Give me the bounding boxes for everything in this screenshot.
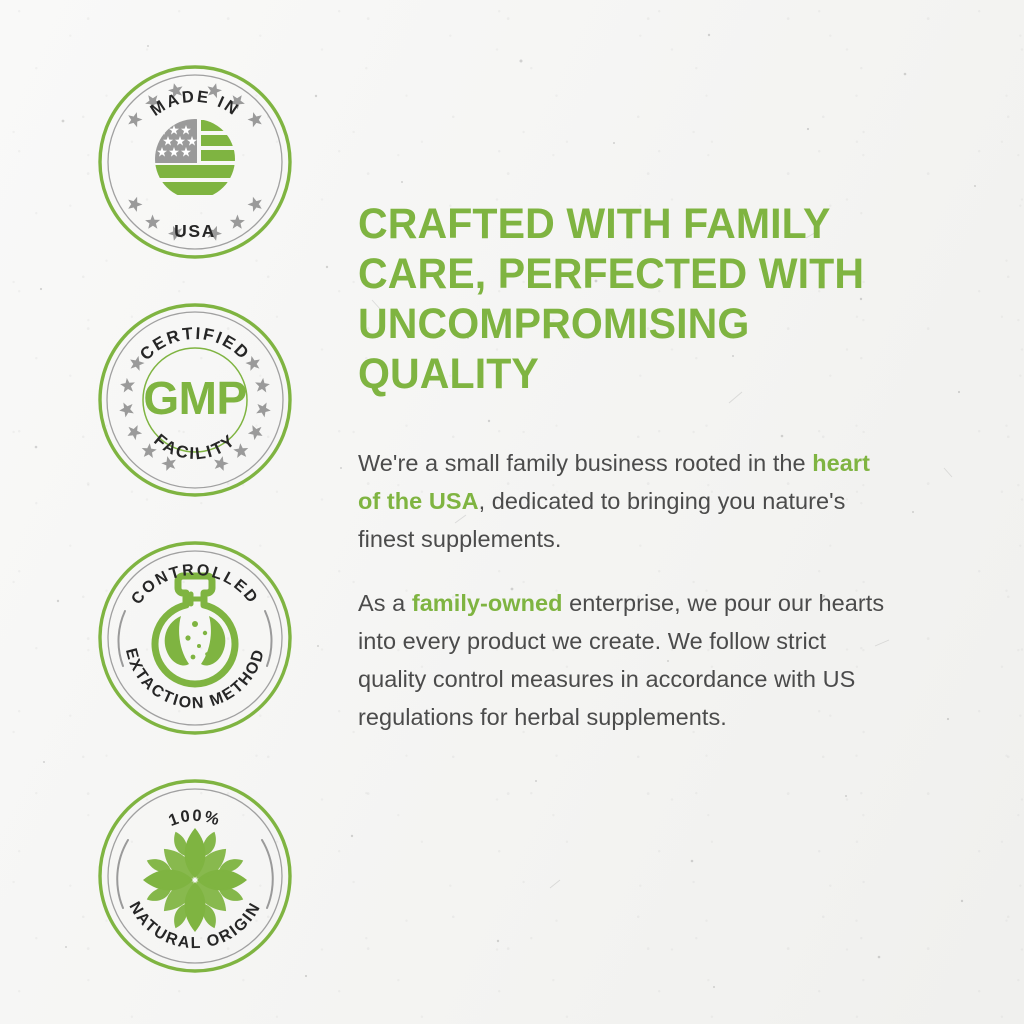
promo-graphic: MADE IN USA (0, 0, 1024, 1024)
badge-natural-origin: 100% NATURAL ORIGIN (95, 776, 295, 976)
page-title: CRAFTED WITH FAMILY CARE, PERFECTED WITH… (358, 200, 902, 400)
gmp-label: GMP (143, 372, 246, 424)
paragraph-1-text-before: We're a small family business rooted in … (358, 450, 812, 476)
certification-badges: MADE IN USA (95, 62, 295, 1014)
badge-bottom-label: USA (174, 221, 216, 241)
badge-gmp-certified-facility: CERTIFIED GMP FACILITY (95, 300, 295, 500)
highlight-family-owned: family-owned (412, 590, 563, 616)
headline-line-2: CARE, PERFECTED WITH (358, 250, 864, 298)
badge-top-label: MADE IN (147, 88, 243, 120)
leaf-rosette-icon (143, 828, 247, 932)
leaf-flask-icon (155, 576, 235, 684)
badge-bottom-label: FACILITY (150, 430, 239, 463)
headline-line-1: CRAFTED WITH FAMILY (358, 200, 831, 248)
text-content: CRAFTED WITH FAMILY CARE, PERFECTED WITH… (358, 200, 928, 762)
paragraph-about-quality-control: As a family-owned enterprise, we pour ou… (358, 584, 898, 736)
paragraph-2-text-before: As a (358, 590, 412, 616)
headline-line-3: UNCOMPROMISING (358, 300, 749, 348)
badge-made-in-usa: MADE IN USA (95, 62, 295, 262)
usa-flag-circle-icon (151, 117, 245, 195)
headline-line-4: QUALITY (358, 350, 539, 398)
badge-controlled-extaction-method: CONTROLLED EXTACTION METHOD (95, 538, 295, 738)
paragraph-about-family-business: We're a small family business rooted in … (358, 444, 878, 558)
badge-top-label: 100% (166, 807, 223, 830)
badge-top-label: CERTIFIED (136, 324, 254, 364)
